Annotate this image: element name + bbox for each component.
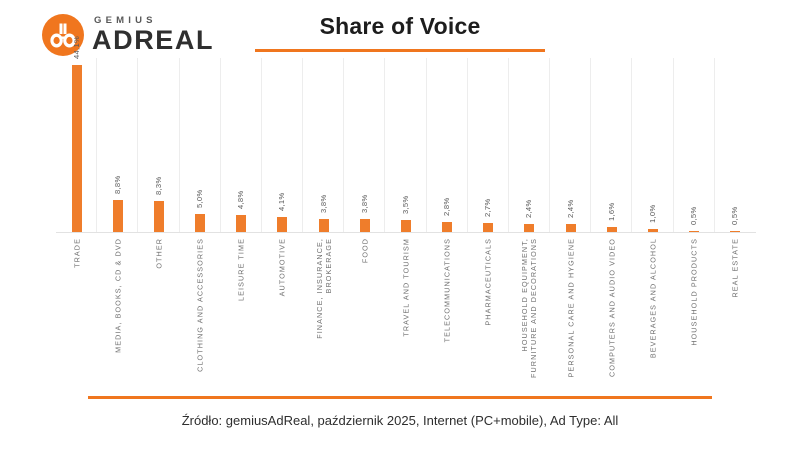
bar-value-label: 44,1% (72, 36, 81, 59)
bar-value-label: 2,8% (442, 198, 451, 217)
category-label-text: HOUSEHOLD EQUIPMENT,FURNITURE AND DECORA… (520, 238, 538, 378)
bar-value-label: 5,0% (195, 189, 204, 208)
bar-value-label: 0,5% (689, 206, 698, 225)
bar-column[interactable]: 1,6% (591, 58, 632, 233)
bar-column[interactable]: 44,1% (56, 58, 97, 233)
logo-wordmark: GEMIUS ADREAL (92, 16, 214, 55)
category-label: FOOD (344, 238, 385, 388)
axis-baseline (56, 232, 756, 233)
bar-column[interactable]: 4,1% (262, 58, 303, 233)
bar[interactable] (113, 200, 123, 233)
bar[interactable] (154, 201, 164, 233)
category-label: FINANCE, INSURANCE,BROKERAGE (303, 238, 344, 388)
category-label: MEDIA, BOOKS, CD & DVD (97, 238, 138, 388)
category-label: PERSONAL CARE AND HYGIENE (550, 238, 591, 388)
bar-value-label: 1,6% (607, 202, 616, 221)
category-label-text: TRADE (72, 238, 81, 268)
category-label: HOUSEHOLD EQUIPMENT,FURNITURE AND DECORA… (509, 238, 550, 388)
category-label: TELECOMMUNICATIONS (427, 238, 468, 388)
category-label: HOUSEHOLD PRODUCTS (674, 238, 715, 388)
category-label: BEVERAGES AND ALCOHOL (632, 238, 673, 388)
bar-value-label: 8,3% (154, 177, 163, 196)
category-label: OTHER (138, 238, 179, 388)
category-label: AUTOMOTIVE (262, 238, 303, 388)
category-label: TRAVEL AND TOURISM (385, 238, 426, 388)
bar-column[interactable]: 0,5% (674, 58, 715, 233)
category-label-text: PERSONAL CARE AND HYGIENE (566, 238, 575, 377)
category-label-text: PHARMACEUTICALS (484, 238, 493, 326)
source-note: Źródło: gemiusAdReal, październik 2025, … (0, 413, 800, 428)
category-label-text: AUTOMOTIVE (278, 238, 287, 296)
bar-column[interactable]: 2,4% (550, 58, 591, 233)
category-label-text: FINANCE, INSURANCE,BROKERAGE (315, 238, 333, 339)
logo-gemius-text: GEMIUS (94, 16, 214, 26)
bar-value-label: 1,0% (648, 205, 657, 224)
bar-value-label: 3,8% (360, 194, 369, 213)
chart-plot-area: 44,1%8,8%8,3%5,0%4,8%4,1%3,8%3,8%3,5%2,8… (56, 58, 756, 233)
bar-value-label: 3,5% (401, 195, 410, 214)
title-underline (255, 49, 545, 52)
bar-column[interactable]: 0,5% (715, 58, 756, 233)
bar-value-label: 0,5% (730, 206, 739, 225)
category-label-text: COMPUTERS AND AUDIO VIDEO (607, 238, 616, 377)
category-label-text: CLOTHING AND ACCESSORIES (196, 238, 205, 372)
bar-column[interactable]: 4,8% (221, 58, 262, 233)
bar-column[interactable]: 3,8% (303, 58, 344, 233)
bar[interactable] (72, 65, 82, 233)
category-label-text: OTHER (154, 238, 163, 269)
bar-column[interactable]: 1,0% (632, 58, 673, 233)
bar-value-label: 4,1% (277, 193, 286, 212)
category-label-text: BEVERAGES AND ALCOHOL (648, 238, 657, 358)
category-label: REAL ESTATE (715, 238, 756, 388)
logo-adreal-text: ADREAL (92, 27, 214, 54)
bar[interactable] (319, 219, 329, 233)
bar-column[interactable]: 3,5% (385, 58, 426, 233)
bar[interactable] (401, 220, 411, 233)
gemius-adreal-logo: GEMIUS ADREAL (42, 14, 214, 56)
bar[interactable] (360, 219, 370, 233)
category-label-text: MEDIA, BOOKS, CD & DVD (113, 238, 122, 353)
bar-column[interactable]: 3,8% (344, 58, 385, 233)
chart-title-text: Share of Voice (255, 14, 545, 39)
bar-value-label: 4,8% (236, 190, 245, 209)
bar-column[interactable]: 8,8% (97, 58, 138, 233)
bar-value-label: 3,8% (319, 194, 328, 213)
category-label: LEISURE TIME (221, 238, 262, 388)
bar-value-label: 2,7% (483, 198, 492, 217)
category-label: TRADE (56, 238, 97, 388)
category-label-text: HOUSEHOLD PRODUCTS (690, 238, 699, 346)
category-label-text: FOOD (360, 238, 369, 263)
category-label-text: LEISURE TIME (237, 238, 246, 301)
category-label-text: REAL ESTATE (731, 238, 740, 298)
category-label: PHARMACEUTICALS (468, 238, 509, 388)
bar[interactable] (277, 217, 287, 233)
bar-value-label: 2,4% (566, 199, 575, 218)
bar-value-label: 8,8% (113, 175, 122, 194)
bar-column[interactable]: 2,4% (509, 58, 550, 233)
bar-value-label: 2,4% (524, 199, 533, 218)
footer-divider (88, 396, 712, 399)
category-label-text: TRAVEL AND TOURISM (401, 238, 410, 337)
bar-columns: 44,1%8,8%8,3%5,0%4,8%4,1%3,8%3,8%3,5%2,8… (56, 58, 756, 233)
bar-column[interactable]: 2,8% (427, 58, 468, 233)
bar-column[interactable]: 5,0% (180, 58, 221, 233)
category-label: COMPUTERS AND AUDIO VIDEO (591, 238, 632, 388)
category-axis-labels: TRADEMEDIA, BOOKS, CD & DVDOTHERCLOTHING… (56, 238, 756, 388)
bar-column[interactable]: 2,7% (468, 58, 509, 233)
category-label-text: TELECOMMUNICATIONS (443, 238, 452, 342)
bar-column[interactable]: 8,3% (138, 58, 179, 233)
bar[interactable] (236, 215, 246, 233)
bar[interactable] (195, 214, 205, 233)
category-label: CLOTHING AND ACCESSORIES (180, 238, 221, 388)
page-title: Share of Voice (255, 14, 545, 52)
